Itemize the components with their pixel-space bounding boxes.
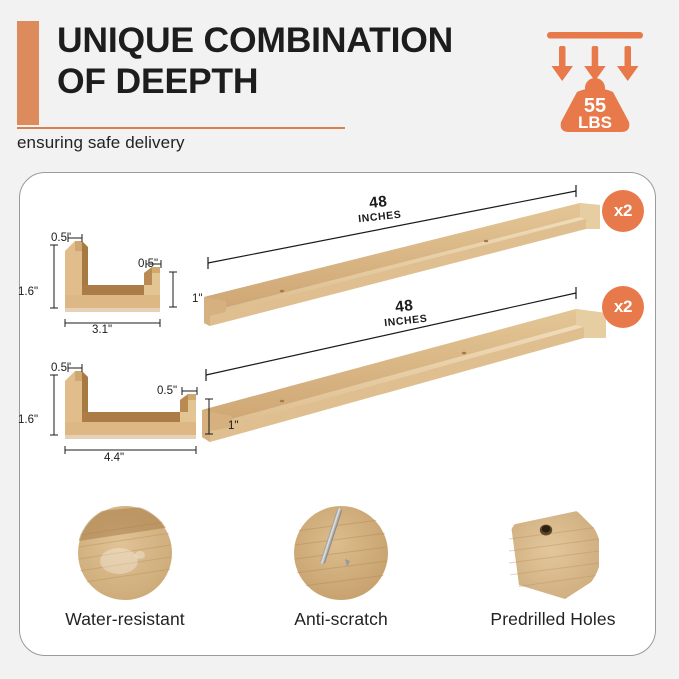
subtitle: ensuring safe delivery (17, 133, 185, 153)
cs2-right-wall-label: 0.5" (157, 385, 177, 397)
header: UNIQUE COMBINATION OF DEEPTH ensuring sa… (0, 0, 679, 165)
feature-water-resistant: Water-resistant (25, 505, 225, 630)
drill-hole-icon (540, 525, 552, 536)
cs2-lip-height-label: 1" (228, 420, 238, 432)
feature-anti-scratch: Anti-scratch (241, 505, 441, 630)
weight-unit-text: LBS (578, 113, 612, 132)
cs1-right-wall-label: 0.5" (138, 258, 158, 270)
cs2-height-label: 1.6" (18, 414, 38, 426)
title-divider-rule (17, 127, 345, 129)
feature-label: Anti-scratch (241, 609, 441, 630)
shelf-1-quantity-badge: x2 (602, 190, 644, 232)
feature-label: Predrilled Holes (453, 609, 653, 630)
feature-row: Water-resistant (19, 505, 656, 645)
predrilled-holes-swatch (505, 505, 601, 601)
title-accent-bar (17, 21, 39, 125)
page-title: UNIQUE COMBINATION OF DEEPTH (57, 20, 527, 102)
anti-scratch-swatch (293, 505, 389, 601)
cs1-left-wall-label: 0.5" (51, 232, 71, 244)
infographic-page: UNIQUE COMBINATION OF DEEPTH ensuring sa… (0, 0, 679, 679)
cs1-height-label: 1.6" (18, 286, 38, 298)
cs1-width-label: 3.1" (92, 324, 112, 336)
shelf-2-quantity-badge: x2 (602, 286, 644, 328)
water-resistant-swatch (77, 505, 173, 601)
cs2-left-wall-label: 0.5" (51, 362, 71, 374)
cross-section-1-render (50, 234, 177, 327)
cs1-lip-height-label: 1" (192, 293, 202, 305)
feature-label: Water-resistant (25, 609, 225, 630)
feature-predrilled-holes: Predrilled Holes (453, 505, 653, 630)
cs2-width-label: 4.4" (104, 452, 124, 464)
weight-capacity-icon: 55 LBS (537, 24, 653, 136)
